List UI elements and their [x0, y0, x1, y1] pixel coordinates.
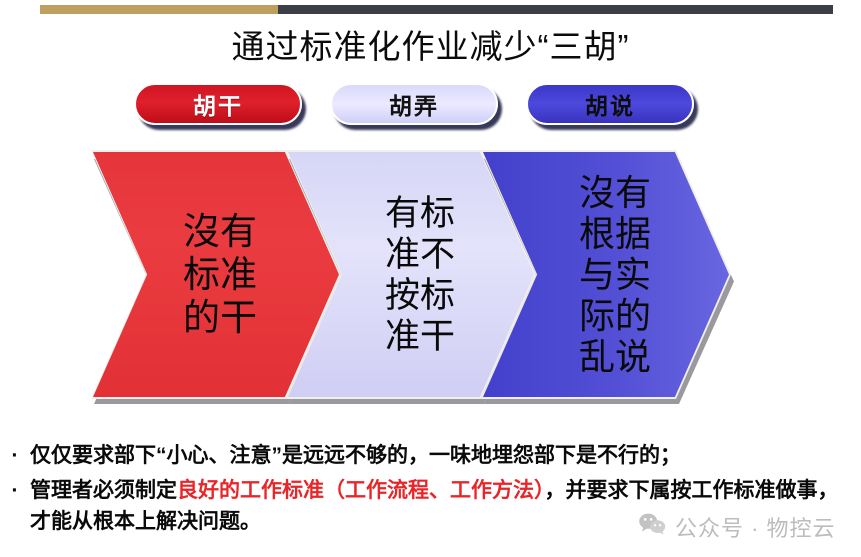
top-accent-bar-dark-segment: [278, 5, 833, 14]
top-accent-bar: [40, 5, 833, 14]
watermark: 公众号 · 物控云: [639, 511, 836, 543]
pill-button-hu-shuo-label: 胡说: [585, 87, 635, 121]
pill-button-hu-shuo[interactable]: 胡说: [526, 83, 694, 125]
slide-canvas: 通过标准化作业减少“三胡” 胡干 胡弄 胡说 沒有 标准 的干 有标 准不: [0, 0, 861, 557]
bullet-marker: ·: [0, 440, 30, 471]
bullet-text-1: 仅仅要求部下“小心、注意”是远远不够的，一味地埋怨部下是不行的；: [30, 440, 861, 471]
bullet-2-segment-1: 管理者必须制定: [30, 479, 177, 502]
bullet-1-segment-1: 仅仅要求部下“小心、注意”是远远不够的，一味地埋怨部下是不行的；: [30, 444, 681, 467]
pill-button-hu-gan-label: 胡干: [193, 87, 243, 121]
top-accent-bar-gold-segment: [40, 5, 278, 14]
pill-button-hu-nong-label: 胡弄: [389, 87, 439, 121]
bullet-marker: ·: [0, 475, 30, 506]
wechat-icon: [639, 513, 666, 541]
page-title: 通过标准化作业减少“三胡”: [0, 20, 861, 68]
bullet-2-segment-highlight: 良好的工作标准（工作流程、工作方法）: [177, 479, 545, 502]
pill-button-row: 胡干 胡弄 胡说: [0, 82, 861, 134]
chevron-band: 沒有 标准 的干 有标 准不 按标 准干 沒有 根据 与实 际的 乱说: [0, 150, 861, 405]
watermark-label: 公众号 · 物控云: [675, 511, 836, 543]
list-item: · 仅仅要求部下“小心、注意”是远远不够的，一味地埋怨部下是不行的；: [0, 440, 861, 471]
pill-button-hu-gan[interactable]: 胡干: [134, 83, 302, 125]
pill-button-hu-nong[interactable]: 胡弄: [330, 83, 498, 125]
